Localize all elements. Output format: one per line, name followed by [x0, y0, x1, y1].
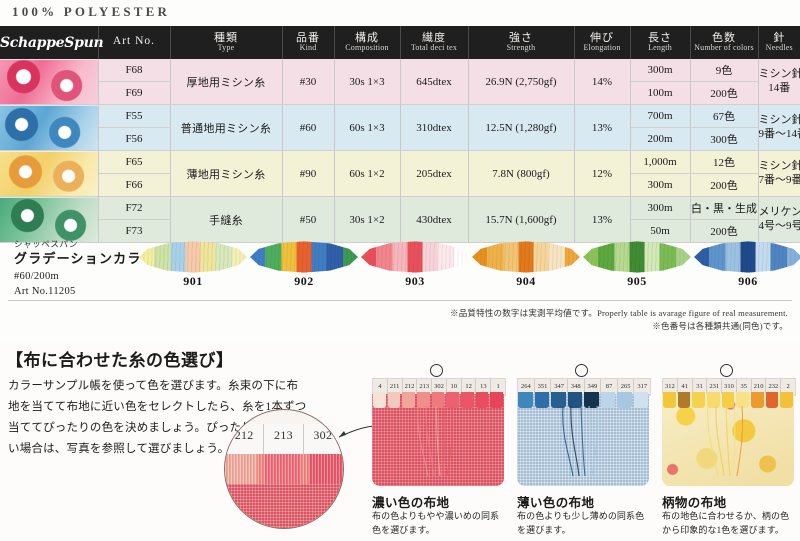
cell-art-no: F65: [98, 151, 170, 174]
cell-art-no: F55: [98, 105, 170, 128]
catalog-page: 100% POLYESTER SchappeSpun Art No.: [0, 0, 800, 541]
panel-description: 布の地色に合わせるか、柄の色から印象的な1色を選びます。: [662, 510, 798, 538]
cell-type: 厚地用ミシン糸: [170, 59, 282, 105]
cell-colors: 200色: [690, 174, 758, 197]
thread-swatch: [678, 392, 691, 408]
col-header-type: 種類 Type: [170, 26, 282, 59]
cell-type: 薄地用ミシン糸: [170, 151, 282, 197]
cell-needles: ミシン針7番〜9番: [758, 151, 800, 197]
thread-swatch: [634, 392, 649, 408]
cell-length: 300m: [630, 174, 690, 197]
cell-type: 普通地用ミシン糸: [170, 105, 282, 151]
col-header-strength: 強さ Strength: [468, 26, 574, 59]
thread-swatch: [663, 392, 676, 408]
cell-needles: ミシン針14番: [758, 59, 800, 105]
cell-decitex: 645dtex: [400, 59, 468, 105]
cell-art-no: F69: [98, 82, 170, 105]
gradation-title: グラデーションカラー: [14, 250, 156, 269]
table-row: F55普通地用ミシン糸#6060s 1×3310dtex12.5N (1,280…: [0, 105, 800, 128]
cell-colors: 200色: [690, 82, 758, 105]
col-header-kind: 品番 Kind: [282, 26, 334, 59]
cell-strength: 26.9N (2,750gf): [468, 59, 574, 105]
cell-strength: 12.5N (1,280gf): [468, 105, 574, 151]
table-row: F72手縫糸#5030s 1×2430dtex15.7N (1,600gf)13…: [0, 197, 800, 220]
table-row: F68厚地用ミシン糸#3030s 1×3645dtex26.9N (2,750g…: [0, 59, 800, 82]
cell-composition: 60s 1×3: [334, 105, 400, 151]
cell-length: 700m: [630, 105, 690, 128]
cell-colors: 67色: [690, 105, 758, 128]
cell-length: 100m: [630, 82, 690, 105]
cell-decitex: 205dtex: [400, 151, 468, 197]
panel-description: 布の色よりもやや濃いめの同系色を選びます。: [372, 510, 508, 538]
col-header-num-colors: 色数 Number of colors: [690, 26, 758, 59]
col-header-composition: 構成 Composition: [334, 26, 400, 59]
table-header-row: SchappeSpun Art No. 種類 Type 品番 Kind 構成: [0, 26, 800, 59]
cell-strength: 7.8N (800gf): [468, 151, 574, 197]
spec-table: SchappeSpun Art No. 種類 Type 品番 Kind 構成: [0, 26, 800, 243]
gradation-skein: 901: [139, 240, 247, 274]
magnifier-fabric: [225, 484, 343, 529]
panel-caption: 柄物の布地: [662, 492, 727, 511]
gradation-skein: 905: [583, 240, 691, 274]
spool-photo-1: [0, 105, 98, 151]
col-header-art-no: Art No.: [98, 26, 170, 59]
col-header-decitex: 繊度 Total deci tex: [400, 26, 468, 59]
thread-swatch: [388, 392, 401, 408]
divider-line: [8, 300, 792, 301]
thread-swatch: [535, 392, 550, 408]
cell-elongation: 12%: [574, 151, 630, 197]
footnote-line-1: ※品質特性の数字は実測平均値です。Properly table is avara…: [450, 307, 788, 320]
magnifier-circle: 212213302: [224, 409, 344, 529]
gradation-skein: 906: [694, 240, 800, 274]
thread-swatch: [617, 392, 632, 408]
cell-decitex: 310dtex: [400, 105, 468, 151]
thread-swatch: [476, 392, 489, 408]
footnote-block: ※品質特性の数字は実測平均値です。Properly table is avara…: [450, 307, 788, 333]
schappe-spun-logo: SchappeSpun: [0, 35, 103, 51]
gradation-label-block: シャッペスパン グラデーションカラー #60/200m Art No.11205: [14, 238, 156, 300]
cell-colors: 9色: [690, 59, 758, 82]
cell-art-no: F66: [98, 174, 170, 197]
cell-art-no: F68: [98, 59, 170, 82]
brand-logo-cell: SchappeSpun: [0, 26, 98, 59]
cell-elongation: 14%: [574, 59, 630, 105]
ring-hole-icon: [575, 364, 588, 377]
skein-code: 906: [672, 274, 800, 289]
cell-kind: #90: [282, 151, 334, 197]
cell-composition: 60s 1×2: [334, 151, 400, 197]
table-row: F65薄地用ミシン糸#9060s 1×2205dtex7.8N (800gf)1…: [0, 151, 800, 174]
spool-photo-0: [0, 59, 98, 105]
panel-description: 布の色よりも少し薄めの同系色を選びます。: [517, 510, 653, 538]
hanging-threads: [700, 406, 756, 478]
gradation-brand-jp: シャッペスパン: [14, 238, 156, 250]
section-title: 【布に合わせた糸の色選び】: [6, 346, 234, 371]
cell-colors: 白・黒・生成: [690, 197, 758, 220]
spool-photo-2: [0, 151, 98, 197]
cell-needles: ミシン針9番〜14番: [758, 105, 800, 151]
cell-length: 200m: [630, 128, 690, 151]
panel-caption: 濃い色の布地: [372, 492, 449, 511]
gradation-skein: 902: [250, 240, 358, 274]
cell-colors: 12色: [690, 151, 758, 174]
page-title: 100% POLYESTER: [12, 4, 170, 20]
ring-hole-icon: [430, 364, 443, 377]
cell-composition: 30s 1×3: [334, 59, 400, 105]
cell-art-no: F56: [98, 128, 170, 151]
gradation-skein: 903: [361, 240, 469, 274]
spec-table-container: SchappeSpun Art No. 種類 Type 品番 Kind 構成: [0, 26, 800, 243]
cell-colors: 300色: [690, 128, 758, 151]
cell-length: 1,000m: [630, 151, 690, 174]
cell-length: 300m: [630, 197, 690, 220]
ring-hole-icon: [720, 364, 733, 377]
panel-caption: 薄い色の布地: [517, 492, 594, 511]
hanging-threads: [410, 406, 466, 478]
thread-swatch: [766, 392, 779, 408]
pointer-arrow-icon: [336, 424, 376, 440]
footnote-line-2: ※色番号は各種類共通(同色)です。: [450, 320, 788, 333]
cell-kind: #30: [282, 59, 334, 105]
col-header-needles: 針 Needles: [758, 26, 800, 59]
thread-swatch: [490, 392, 503, 408]
col-header-length: 長さ Length: [630, 26, 690, 59]
cell-kind: #60: [282, 105, 334, 151]
thread-swatch: [518, 392, 533, 408]
gradation-skein: 904: [472, 240, 580, 274]
hanging-threads: [555, 406, 611, 478]
gradation-section: シャッペスパン グラデーションカラー #60/200m Art No.11205…: [0, 236, 800, 304]
thread-swatch: [780, 392, 793, 408]
magnifier-floss: [225, 454, 343, 488]
col-header-elongation: 伸び Elongation: [574, 26, 630, 59]
cell-length: 300m: [630, 59, 690, 82]
thread-swatch: [373, 392, 386, 408]
cell-art-no: F72: [98, 197, 170, 220]
cell-elongation: 13%: [574, 105, 630, 151]
